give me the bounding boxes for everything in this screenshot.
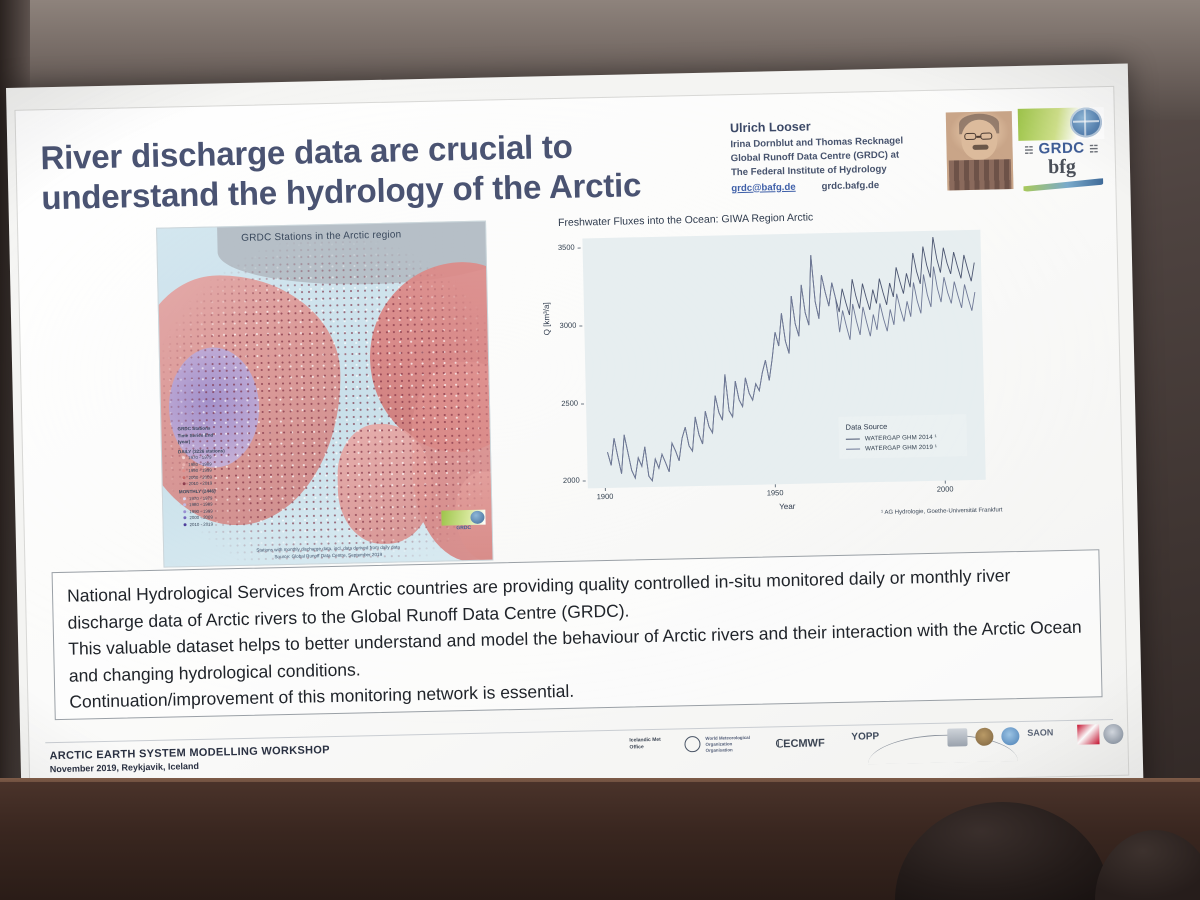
chart-x-tick-label: 2000: [937, 484, 954, 493]
map-legend-header-3: (year): [178, 438, 264, 447]
bfg-swoosh-graphic: [1023, 178, 1103, 192]
glasses-icon-right: [980, 132, 992, 139]
chart-legend: Data Source WATERGAP GHM 2014 ¹ WATERGAP…: [838, 414, 967, 459]
eagle-icon-left: ☵: [1024, 146, 1034, 157]
legend-swatch: [183, 476, 186, 479]
legend-series-label: WATERGAP GHM 2014 ¹: [865, 434, 937, 443]
iceland-met-office-icon: Icelandic MetOffice: [629, 737, 661, 751]
chart-plot-area: Data Source WATERGAP GHM 2014 ¹ WATERGAP…: [582, 230, 985, 489]
author-email-link[interactable]: grdc@bafg.de: [731, 181, 795, 193]
iasc-globe-icon: [1001, 727, 1019, 745]
wmo-label-icon: World MeteorologicalOrganizationOrganisa…: [705, 735, 750, 754]
projection-screen: River discharge data are crucial to unde…: [6, 64, 1144, 818]
glasses-bridge: [976, 136, 981, 138]
legend-swatch: [183, 510, 186, 513]
wmo-icon: [684, 736, 700, 752]
legend-swatch: [183, 517, 186, 520]
legend-swatch: [183, 504, 186, 507]
legend-label: 1980 - 1989: [189, 502, 213, 508]
chart-x-tick-label: 1950: [767, 488, 784, 497]
footer-sponsor-logos: Icelandic MetOffice World Meteorological…: [629, 723, 1115, 778]
chart-x-tick-mark: [945, 481, 946, 484]
map-legend-item: 2010 - 2019: [179, 480, 265, 487]
legend-label: 1990 - 1999: [188, 468, 212, 474]
chart-y-tick-label: 2000: [550, 476, 580, 486]
chart-y-tick-label: 3000: [546, 321, 576, 331]
chart-footnote: ¹ AG Hydrologie, Goethe-Universität Fran…: [881, 507, 1002, 516]
legend-label: 1970 - 1979: [188, 455, 212, 461]
chart-y-tick-mark: [578, 248, 581, 249]
map-legend: GRDC Stations Time Series End (year) DAI…: [177, 424, 265, 527]
conference-room-photo: River discharge data are crucial to unde…: [0, 0, 1200, 900]
chart-y-tick-label: 2500: [548, 398, 578, 408]
nordic-circle-icon: [1103, 724, 1123, 744]
legend-swatch: [184, 523, 187, 526]
legend-swatch: [182, 463, 185, 466]
legend-label: 1980 - 1989: [188, 462, 212, 468]
legend-line-swatch: [846, 448, 860, 450]
chart-y-tick-mark: [583, 481, 586, 482]
chart-panel: Freshwater Fluxes into the Ocean: GIWA R…: [530, 207, 1007, 537]
footer-event-block: ARCTIC EARTH SYSTEM MODELLING WORKSHOP N…: [49, 744, 330, 774]
summary-textbox: National Hydrological Services from Arct…: [52, 549, 1103, 720]
chart-y-axis-label: Q [km³/a]: [542, 302, 552, 335]
chart-y-tick-mark: [581, 403, 584, 404]
yopp-arc-graphic: [867, 733, 1018, 764]
author-block: Ulrich Looser Irina Dornblut and Thomas …: [730, 116, 952, 193]
author-website: grdc.bafg.de: [821, 180, 879, 192]
chart-y-tick-mark: [579, 325, 582, 326]
bfg-logo-text: bfg: [1019, 155, 1105, 180]
chart-y-tick-label: 3500: [545, 243, 575, 253]
eagle-icon-right: ☵: [1089, 144, 1099, 155]
legend-swatch: [183, 497, 186, 500]
glasses-icon: [964, 133, 976, 140]
chart-x-tick-mark: [605, 488, 606, 491]
legend-label: 2010 - 2019: [189, 481, 213, 487]
chart-legend-item[interactable]: WATERGAP GHM 2019 ¹: [846, 443, 960, 452]
organisation-logos: ☵ GRDC ☵ bfg: [1018, 105, 1106, 193]
legend-label: 2000 - 2009: [189, 515, 213, 521]
author-name: Ulrich Looser: [730, 116, 950, 135]
legend-line-swatch: [846, 438, 860, 440]
university-building-icon: [947, 728, 967, 746]
chart-legend-item[interactable]: WATERGAP GHM 2014 ¹: [846, 433, 960, 442]
page-title: River discharge data are crucial to unde…: [40, 124, 702, 219]
chart-legend-title: Data Source: [846, 420, 960, 431]
presentation-slide: River discharge data are crucial to unde…: [14, 86, 1129, 800]
legend-label: 1990 - 1999: [189, 509, 213, 515]
avatar: [946, 111, 1014, 190]
legend-label: 2010 - 2019: [190, 522, 214, 528]
legend-swatch: [183, 483, 186, 486]
ecmwf-logo-text: ℂECMWF: [775, 736, 825, 750]
map-panel: GRDC Stations in the Arctic region GRDC …: [156, 221, 493, 568]
legend-swatch: [182, 457, 185, 460]
yopp-logo-text: YOPP: [851, 731, 879, 743]
legend-swatch: [182, 470, 185, 473]
chart-x-tick-label: 1900: [597, 492, 614, 501]
chart-x-tick-mark: [775, 484, 776, 487]
avatar-shirt: [949, 159, 1012, 190]
legend-label: 2000 - 2009: [188, 475, 212, 481]
saon-logo-text: SAON: [1027, 727, 1053, 738]
avatar-moustache: [972, 145, 988, 150]
badge-label: GRDC: [442, 525, 486, 532]
map-grdc-badge: GRDC: [441, 510, 486, 537]
chart-title: Freshwater Fluxes into the Ocean: GIWA R…: [558, 211, 813, 229]
legend-series-label: WATERGAP GHM 2019 ¹: [865, 444, 937, 453]
norway-flag-icon: [1077, 724, 1099, 744]
legend-label: 1970 - 1979: [189, 496, 213, 502]
author-contact-row: grdc@bafg.de grdc.bafg.de: [731, 178, 951, 194]
